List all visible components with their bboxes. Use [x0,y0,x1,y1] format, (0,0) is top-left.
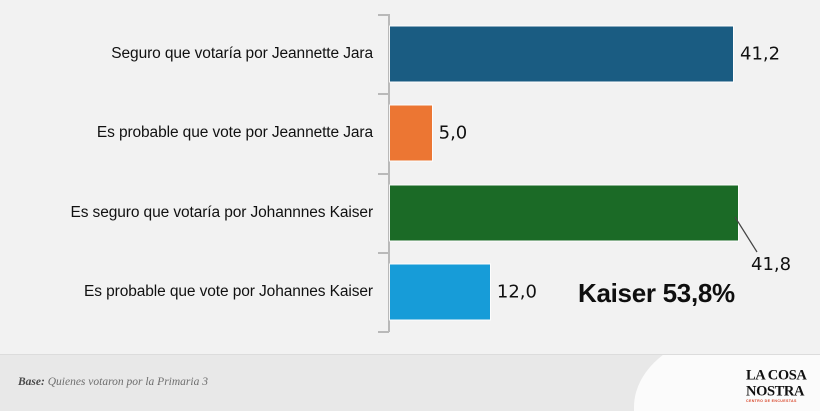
logo-subtitle: CENTRO DE ENCUESTAS [746,400,808,404]
category-label-3: Es probable que vote por Johannes Kaiser [84,283,373,301]
bar-value-label-3: 12,0 [497,282,537,303]
bar-value-label-1: 5,0 [439,123,468,144]
category-label-1: Es probable que vote por Jeannette Jara [97,124,373,142]
brand-logo: LA COSA NOSTRA CENTRO DE ENCUESTAS [746,368,808,404]
category-label-2: Es seguro que votaría por Johannnes Kais… [70,204,373,222]
bar-1[interactable] [390,106,432,161]
category-label-0: Seguro que votaría por Jeannette Jara [111,45,373,63]
base-note-label: Base: [18,376,45,388]
logo-line-1: LA COSA [746,368,808,383]
kaiser-total-annotation: Kaiser 53,8% [578,278,735,309]
footer-bar: Base: Quienes votaron por la Primaria 3 … [0,354,820,411]
bar-3[interactable] [390,265,490,320]
bar-group-0: 41,2 [390,26,780,81]
bar-row: Es probable que vote por Jeannette Jara … [0,94,820,174]
bar-row: Seguro que votaría por Jeannette Jara 41… [0,14,820,94]
bar-chart: Seguro que votaría por Jeannette Jara 41… [0,0,820,355]
base-note: Base: Quienes votaron por la Primaria 3 [18,376,208,388]
bar-row: Es seguro que votaría por Johannnes Kais… [0,173,820,253]
bar-value-label-0: 41,2 [740,43,780,64]
bar-group-3: 12,0 [390,265,537,320]
bar-group-1: 5,0 [390,106,467,161]
logo-line-2: NOSTRA [746,384,808,399]
bar-2[interactable] [390,185,738,240]
base-note-text: Quienes votaron por la Primaria 3 [48,376,208,388]
slide-root: Seguro que votaría por Jeannette Jara 41… [0,0,820,411]
bar-0[interactable] [390,26,733,81]
bar-group-2: 41,8 [390,185,738,240]
